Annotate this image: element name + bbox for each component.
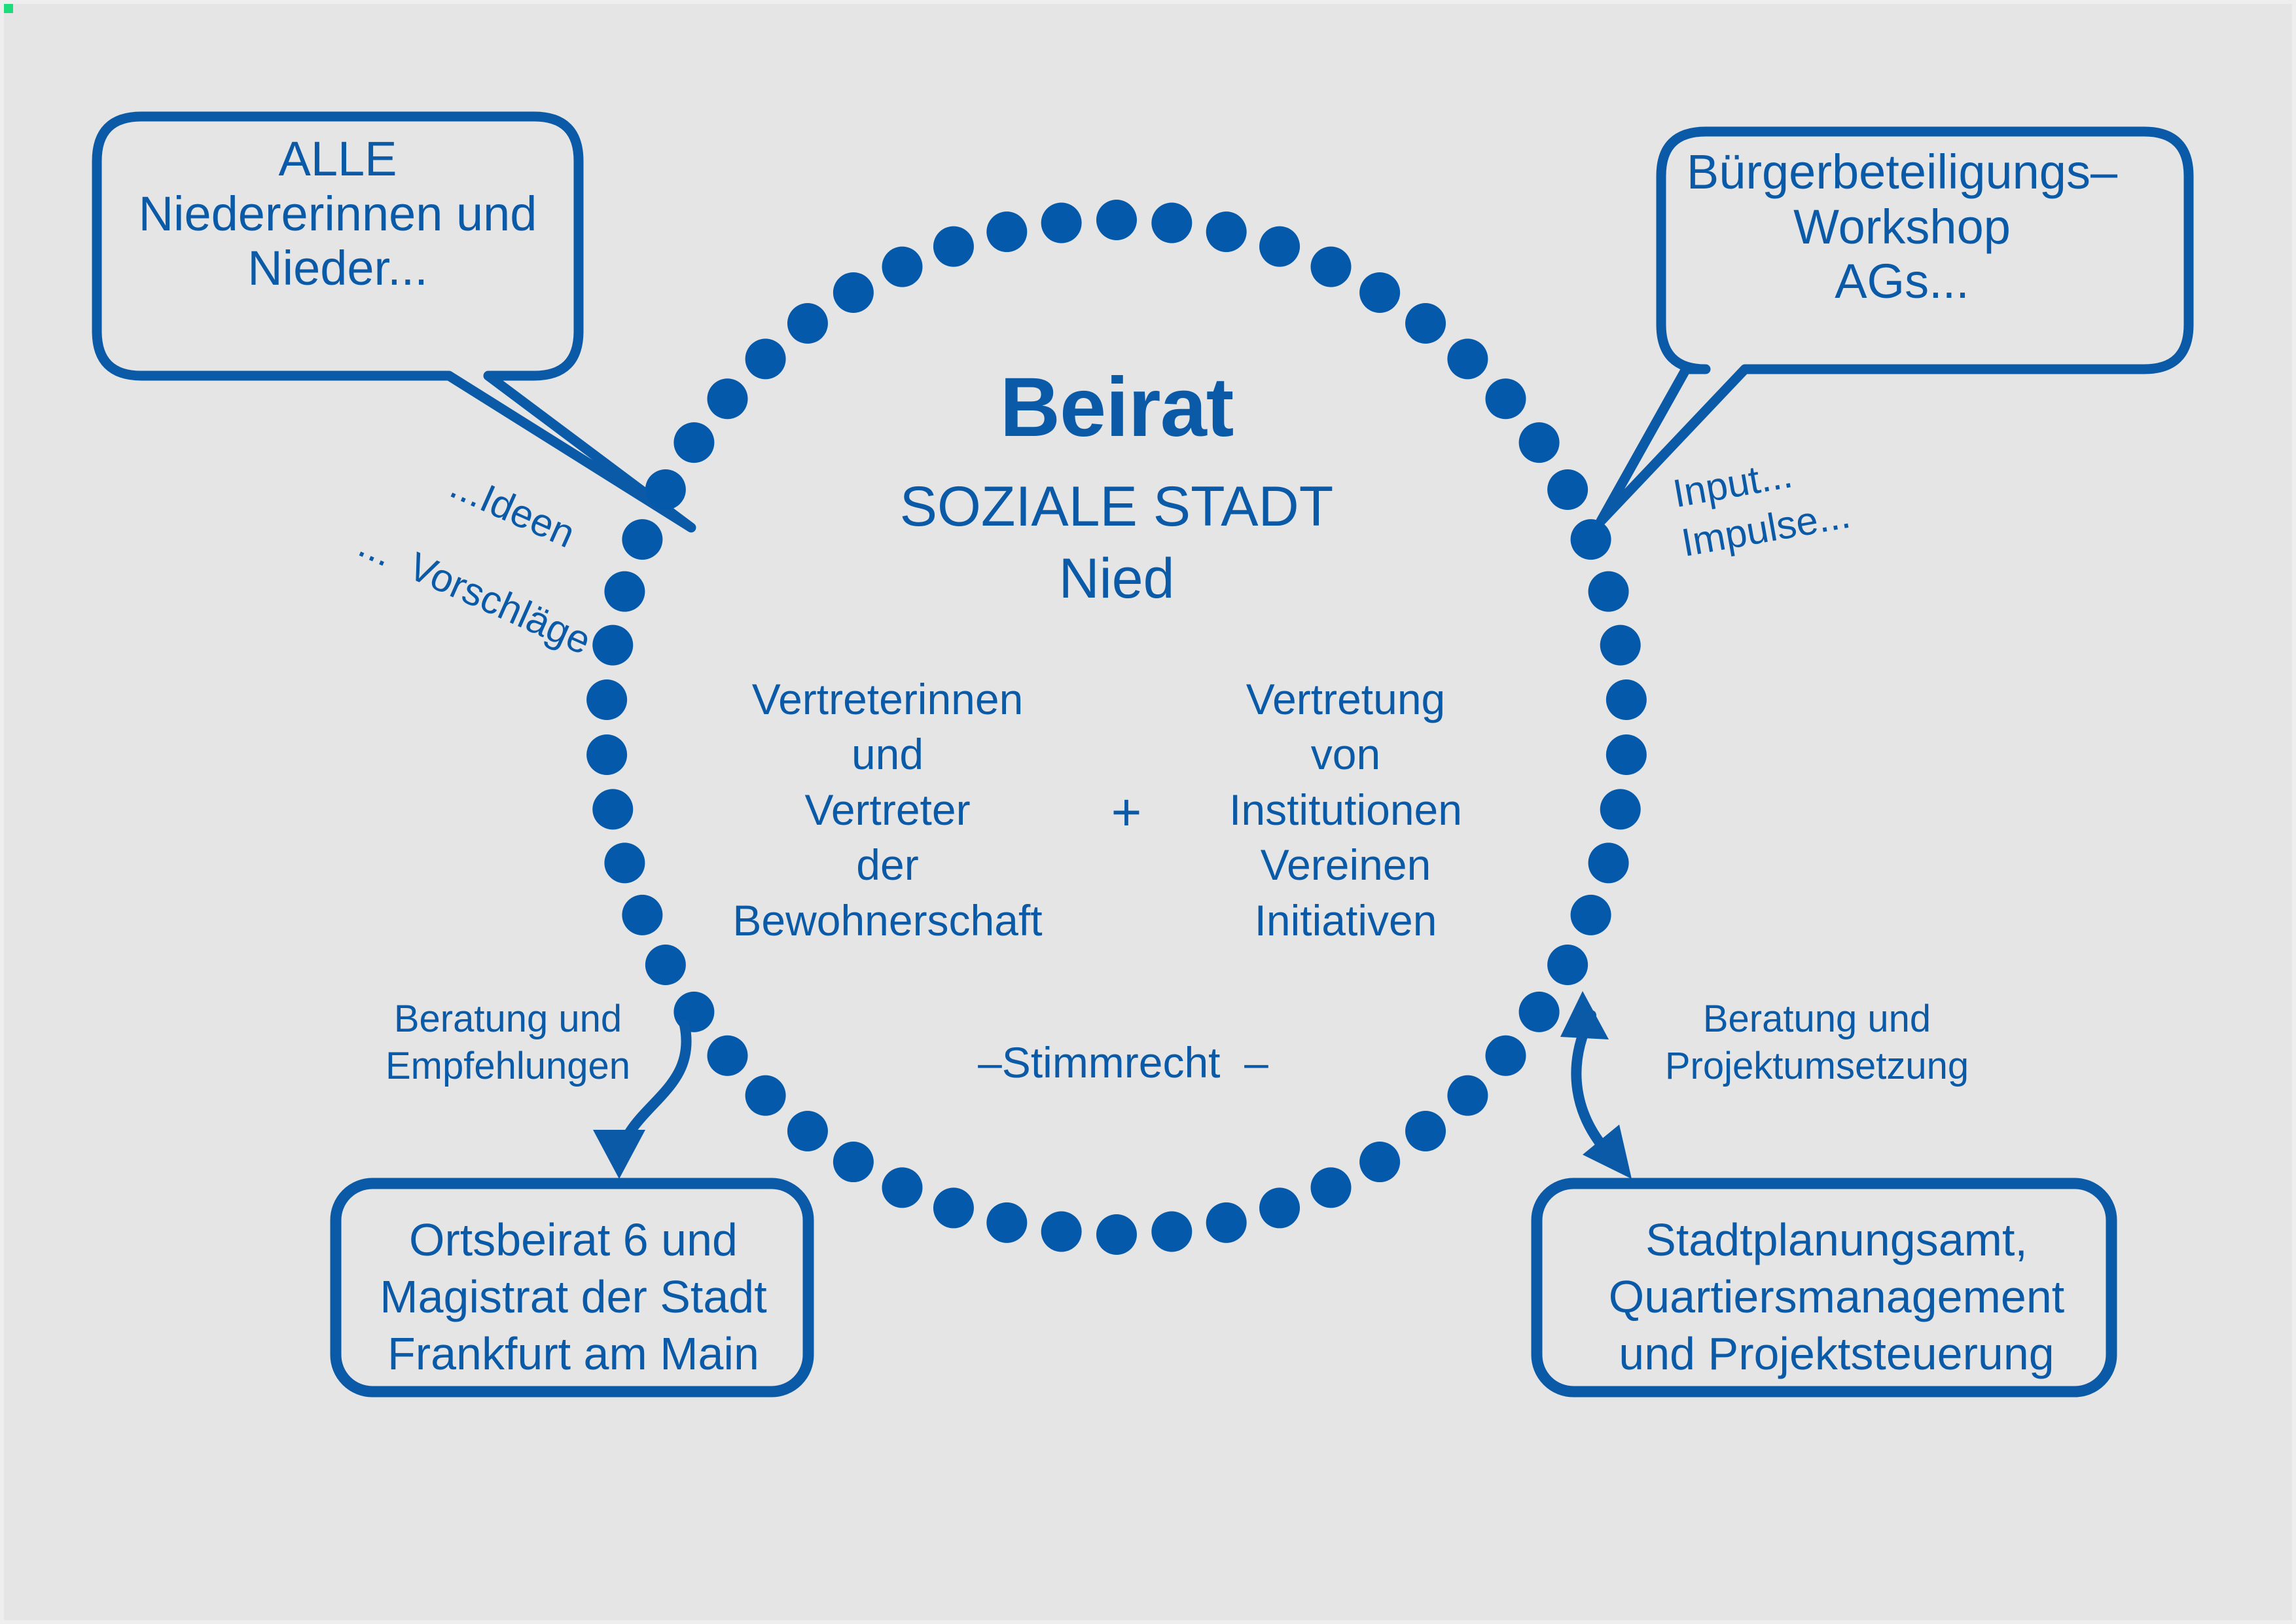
ring-dot (986, 211, 1027, 252)
ring-dot (708, 1036, 748, 1076)
ring-dot (1547, 945, 1588, 985)
ring-dot (882, 1167, 922, 1208)
ring-dot (1359, 272, 1400, 313)
ring-dot (1259, 1187, 1300, 1228)
ring-dot (1600, 789, 1641, 829)
ring-dot (1571, 519, 1611, 560)
ring-dot (592, 625, 633, 666)
ring-dot (1485, 1036, 1526, 1076)
box-bottom-left-label: Ortsbeirat 6 und Magistrat der Stadt Fra… (344, 1212, 802, 1382)
ring-dot (787, 1111, 828, 1151)
label-beratung-projektumsetzung: Beratung und Projektumsetzung (1653, 996, 1981, 1090)
ring-dot (592, 789, 633, 829)
ring-dot (1606, 679, 1647, 720)
ring-dot (1600, 625, 1641, 666)
ring-dot (586, 679, 627, 720)
circle-footnote-stimmrecht: –Stimmrecht – (933, 1038, 1313, 1087)
ring-dot (833, 1142, 874, 1182)
ring-dot (1588, 842, 1629, 883)
ring-dot (1311, 1167, 1352, 1208)
ring-dot (986, 1202, 1027, 1243)
box-bottom-right-label: Stadtplanungsamt, Quartiersmanagement un… (1549, 1212, 2125, 1382)
circle-column-right: Vertretung von Institutionen Vereinen In… (1182, 672, 1509, 948)
ring-dot (1447, 1075, 1488, 1116)
ring-dot (1206, 211, 1247, 252)
ring-dot (1405, 303, 1446, 344)
arrow-right-double (1560, 991, 1632, 1179)
ring-dot (586, 734, 627, 775)
diagram-canvas: ALLE Niedererinnen und Nieder... Bürgerb… (0, 0, 2296, 1624)
ring-dot (708, 378, 748, 419)
ring-dot (1606, 734, 1647, 775)
circle-title: Beirat (842, 361, 1391, 456)
ring-dot (1359, 1142, 1400, 1182)
ring-dot (1151, 1211, 1192, 1252)
ring-dot (1547, 469, 1588, 510)
ring-dot (1151, 203, 1192, 244)
ring-dot (673, 422, 714, 463)
ring-dot (882, 247, 922, 287)
ring-dot (1571, 895, 1611, 935)
ring-dot (1096, 200, 1137, 240)
circle-subtitle-line1: SOZIALE STADT (842, 475, 1391, 539)
ring-dot (1041, 203, 1082, 244)
ring-dot (1096, 1214, 1137, 1255)
ring-dot (833, 272, 874, 313)
ring-dot (787, 303, 828, 344)
ring-dot (1206, 1202, 1247, 1243)
ring-dot (1447, 338, 1488, 379)
ring-dot (1405, 1111, 1446, 1151)
ring-dot (1041, 1211, 1082, 1252)
ring-dot (604, 842, 645, 883)
ring-dot (1519, 422, 1560, 463)
circle-subtitle-line2: Nied (842, 547, 1391, 611)
ring-dot (645, 945, 686, 985)
ring-dot (933, 226, 974, 267)
bubble-top-right-label: Bürgerbeteiligungs– Workshop AGs... (1666, 145, 2138, 309)
ring-dot (745, 338, 786, 379)
circle-column-left: Vertreterinnen und Vertreter der Bewohne… (704, 672, 1071, 948)
ring-dot (645, 469, 686, 510)
ring-dot (1519, 992, 1560, 1032)
ring-dot (1259, 226, 1300, 267)
bubble-top-left-label: ALLE Niedererinnen und Nieder... (115, 132, 560, 296)
ring-dot (1588, 571, 1629, 612)
ring-dot (933, 1187, 974, 1228)
ring-dot (622, 519, 662, 560)
ring-dot (1485, 378, 1526, 419)
ring-dot (1311, 247, 1352, 287)
ring-dot (622, 895, 662, 935)
plus-operator: + (1071, 783, 1182, 842)
label-beratung-empfehlungen: Beratung und Empfehlungen (370, 996, 645, 1090)
ring-dot (604, 571, 645, 612)
ring-dot (745, 1075, 786, 1116)
